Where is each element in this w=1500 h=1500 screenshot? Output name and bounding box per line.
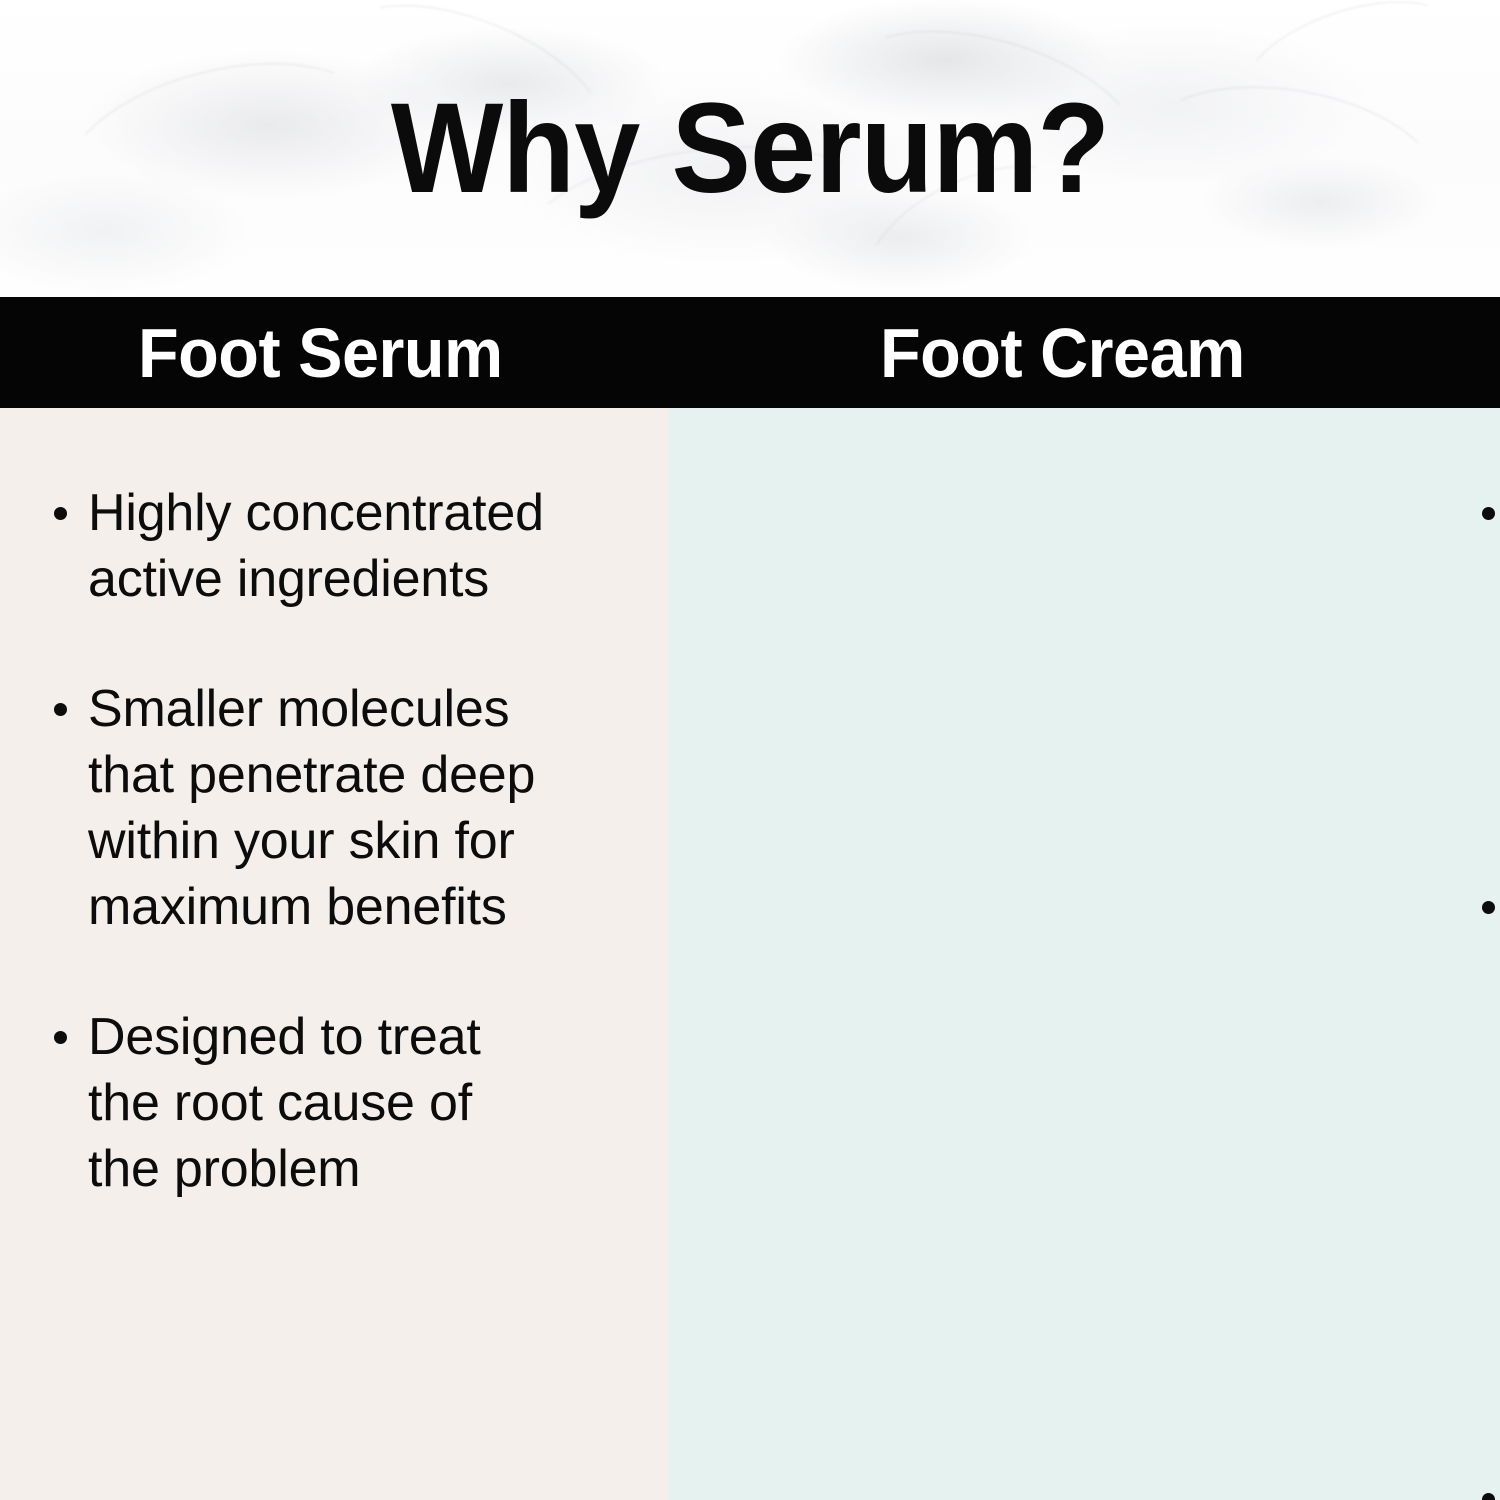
page-title: Why Serum? <box>53 0 1448 297</box>
bullet-dot-icon <box>54 1031 67 1044</box>
list-item-text: Smaller molecules that penetrate deep wi… <box>88 676 644 940</box>
bullet-dot-icon <box>54 507 67 520</box>
column-header-foot-serum: Foot Serum <box>0 297 742 408</box>
bullet-dot-icon <box>1482 901 1495 914</box>
bullet-dot-icon <box>1482 507 1495 520</box>
list-item-text: Designed to treat the root cause of the … <box>88 1004 644 1202</box>
comparison-infographic: Why Serum? Foot Serum Foot Cream Highly … <box>0 0 1500 1500</box>
list-item: Provides a barrier to lock in moisture, … <box>1480 1466 1500 1500</box>
list-item-text: Highly concentrated active ingredients <box>88 480 644 612</box>
column-header-label: Foot Serum <box>138 313 503 393</box>
column-header-label: Foot Cream <box>880 313 1245 393</box>
list-item: Designed to treat the root cause of the … <box>52 1004 644 1202</box>
list-item: Highly concentrated active ingredients <box>52 480 644 612</box>
list-item: Smaller molecules that penetrate deep wi… <box>52 676 644 940</box>
list-item: Less concentration of active ingredients <box>1480 480 1500 810</box>
list-item: Only reaches the outer layer of your ski… <box>1480 874 1500 1402</box>
hero-banner: Why Serum? <box>0 0 1500 297</box>
column-foot-cream: Less concentration of active ingredients… <box>668 408 1500 1500</box>
bullet-dot-icon <box>54 703 67 716</box>
bullet-list-foot-serum: Highly concentrated active ingredients S… <box>52 480 644 1202</box>
bullet-dot-icon <box>1482 1493 1495 1500</box>
comparison-columns: Highly concentrated active ingredients S… <box>0 408 1500 1500</box>
column-header-foot-cream: Foot Cream <box>742 297 1500 408</box>
column-foot-serum: Highly concentrated active ingredients S… <box>0 408 668 1500</box>
column-header-bar: Foot Serum Foot Cream <box>0 297 1500 408</box>
